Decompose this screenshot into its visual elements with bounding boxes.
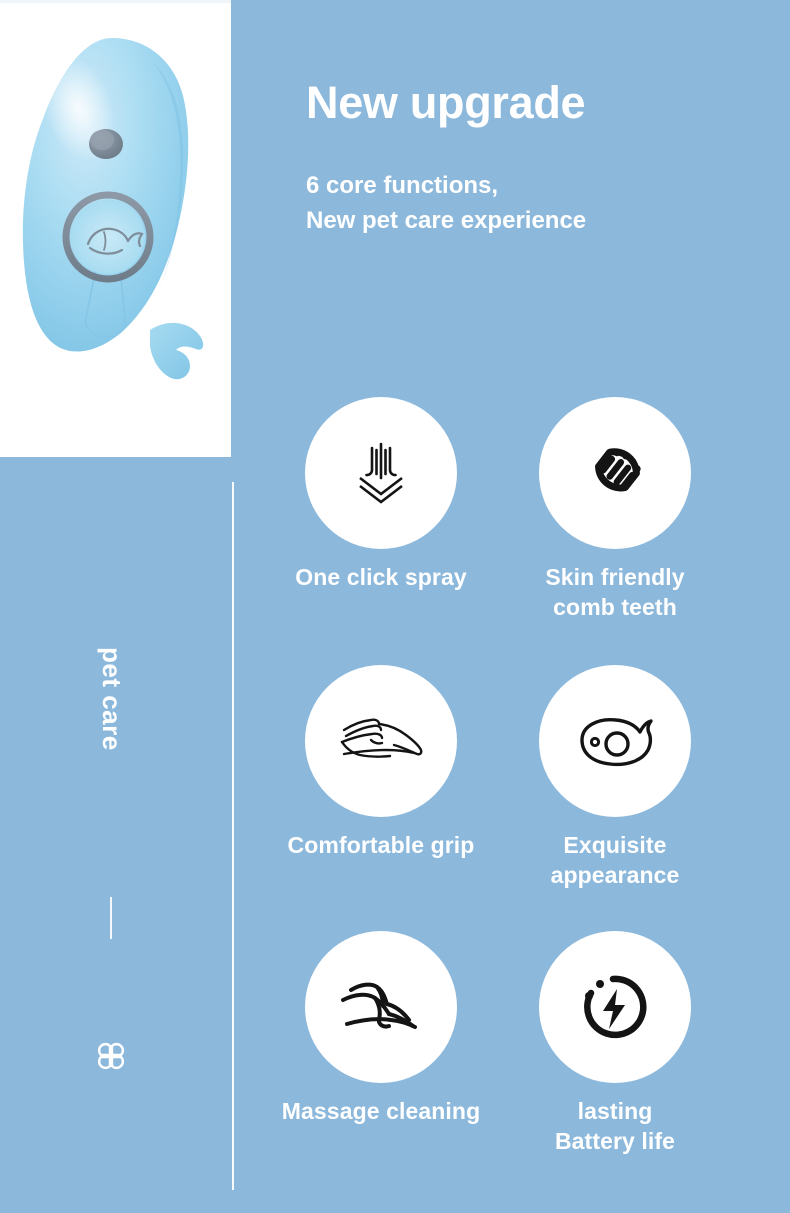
feature-caption: Massage cleaning (261, 1097, 501, 1127)
feature-caption-line-1: Exquisite (563, 832, 666, 858)
subtitle-line-1: 6 core functions, (306, 169, 586, 204)
page-subtitle: 6 core functions, New pet care experienc… (306, 169, 586, 239)
feature-item-comb-teeth: Skin friendly comb teeth (495, 397, 735, 623)
feature-item-one-click-spray: One click spray (261, 397, 501, 593)
feature-caption-line-1: Massage cleaning (282, 1098, 480, 1124)
feature-caption-line-2: comb teeth (495, 593, 735, 623)
feature-caption-line-1: Skin friendly (545, 564, 684, 590)
product-control-gloss (71, 200, 145, 274)
lightning-bolt-icon (603, 989, 625, 1029)
feature-caption: lasting Battery life (495, 1097, 735, 1157)
infographic-page: pet care New upgrade 6 core functions, N… (0, 0, 790, 1213)
whale-eye (591, 738, 598, 745)
feature-item-battery-life: lasting Battery life (495, 931, 735, 1157)
vertical-divider-rule (232, 482, 234, 1190)
comb-teeth-icon (576, 434, 654, 512)
whale-outline-icon (572, 706, 658, 776)
feature-item-comfortable-grip: Comfortable grip (261, 665, 501, 861)
sidebar-divider (110, 897, 112, 939)
subtitle-line-2: New pet care experience (306, 204, 586, 239)
page-title: New upgrade (306, 77, 585, 129)
feature-caption: Skin friendly comb teeth (495, 563, 735, 623)
spray-down-icon (342, 434, 420, 512)
feature-caption-line-2: Battery life (495, 1127, 735, 1157)
whale-button (606, 733, 628, 755)
feature-icon-bubble (305, 397, 457, 549)
feature-caption-line-1: Comfortable grip (288, 832, 475, 858)
product-power-button-highlight (90, 130, 114, 150)
sidebar: pet care (0, 457, 231, 1213)
battery-spark-dot-2 (585, 992, 593, 1000)
feature-item-exquisite-appearance: Exquisite appearance (495, 665, 735, 891)
product-photo-whale-brush (0, 0, 231, 457)
feature-caption-line-2: appearance (495, 861, 735, 891)
feature-icon-bubble (305, 931, 457, 1083)
battery-spark-dot-1 (596, 980, 604, 988)
product-tail-fin (150, 323, 203, 379)
feature-grid: One click spray (245, 397, 790, 1187)
sidebar-vertical-label: pet care (96, 647, 127, 751)
feature-caption-line-1: One click spray (295, 564, 467, 590)
feature-icon-bubble (539, 397, 691, 549)
feature-icon-bubble (539, 931, 691, 1083)
feature-caption-line-1: lasting (578, 1098, 653, 1124)
feature-caption: Comfortable grip (261, 831, 501, 861)
feature-caption: One click spray (261, 563, 501, 593)
product-image-panel (0, 0, 231, 457)
massage-hands-icon (337, 974, 425, 1040)
battery-bolt-icon (575, 967, 655, 1047)
feature-icon-bubble (305, 665, 457, 817)
feature-icon-bubble (539, 665, 691, 817)
clover-icon (88, 1033, 134, 1079)
feature-item-massage-cleaning: Massage cleaning (261, 931, 501, 1127)
feature-caption: Exquisite appearance (495, 831, 735, 891)
open-hand-icon (338, 706, 424, 776)
